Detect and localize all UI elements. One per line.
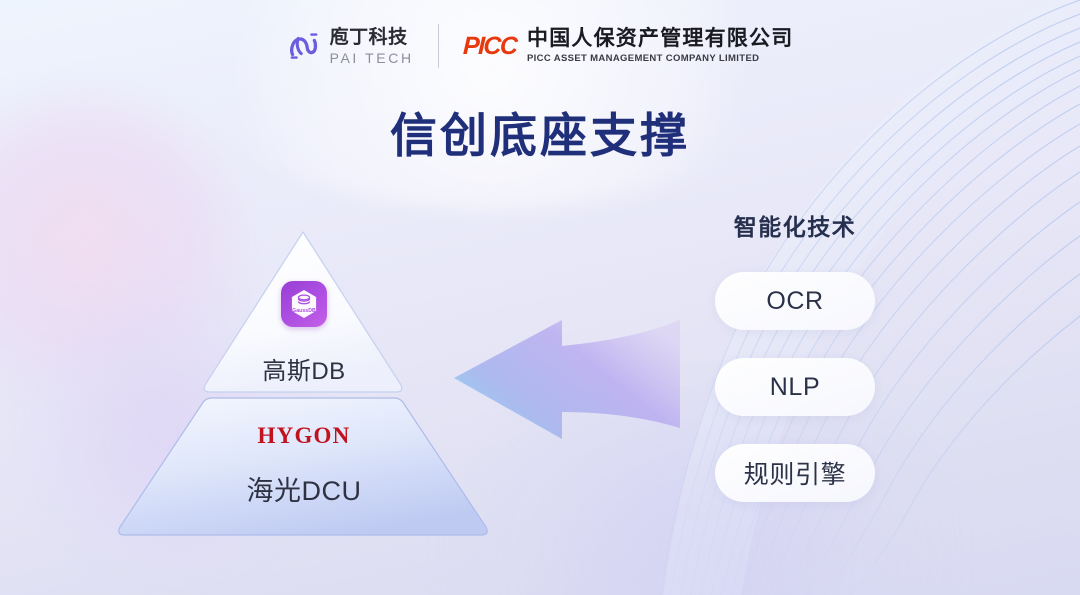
pyramid-tier-bottom-shape <box>119 398 487 535</box>
gaussdb-icon: GaussDB <box>281 281 327 327</box>
tech-card-ocr-label: OCR <box>766 287 823 316</box>
pyramid-tier-top-label: 高斯DB <box>104 351 504 386</box>
pyramid-hygon-brand: HYGON <box>104 423 504 449</box>
picc-logo-mark: PICC <box>462 34 516 59</box>
tech-card-nlp[interactable]: NLP <box>715 358 875 416</box>
tech-card-ocr[interactable]: OCR <box>715 272 875 330</box>
tech-card-rule-engine-label: 规则引擎 <box>744 455 846 491</box>
pai-tech-name-en: PAI TECH <box>330 51 414 65</box>
header-logos: 庖丁科技 PAI TECH PICC 中国人保资产管理有限公司 PICC ASS… <box>0 24 1080 68</box>
pai-tech-wave-mark-icon <box>287 29 321 63</box>
tech-card-nlp-label: NLP <box>770 373 820 402</box>
logo-pai-tech: 庖丁科技 PAI TECH <box>287 28 414 65</box>
slide-canvas: 庖丁科技 PAI TECH PICC 中国人保资产管理有限公司 PICC ASS… <box>0 0 1080 595</box>
picc-wordmark: 中国人保资产管理有限公司 PICC ASSET MANAGEMENT COMPA… <box>527 28 793 64</box>
picc-name-en: PICC ASSET MANAGEMENT COMPANY LIMITED <box>527 54 793 64</box>
gaussdb-hexagon-glyph: GaussDB <box>287 287 321 321</box>
tech-panel: 智能化技术 OCR NLP 规则引擎 <box>695 208 895 502</box>
pai-tech-wordmark: 庖丁科技 PAI TECH <box>330 28 414 65</box>
left-arrow-icon <box>450 312 680 447</box>
svg-text:GaussDB: GaussDB <box>292 308 316 314</box>
tech-card-rule-engine[interactable]: 规则引擎 <box>715 444 875 502</box>
pyramid-tier-bottom-label: 海光DCU <box>104 469 504 508</box>
pai-tech-name-cn: 庖丁科技 <box>330 28 414 47</box>
logo-picc: PICC 中国人保资产管理有限公司 PICC ASSET MANAGEMENT … <box>463 28 794 64</box>
tech-panel-heading: 智能化技术 <box>695 208 895 242</box>
picc-name-cn: 中国人保资产管理有限公司 <box>527 28 793 49</box>
flow-arrow <box>450 312 680 447</box>
tech-stack-pyramid: GaussDB 高斯DB HYGON 海光DCU <box>104 222 504 542</box>
page-title: 信创底座支撑 <box>0 108 1080 164</box>
header-divider <box>438 24 439 68</box>
